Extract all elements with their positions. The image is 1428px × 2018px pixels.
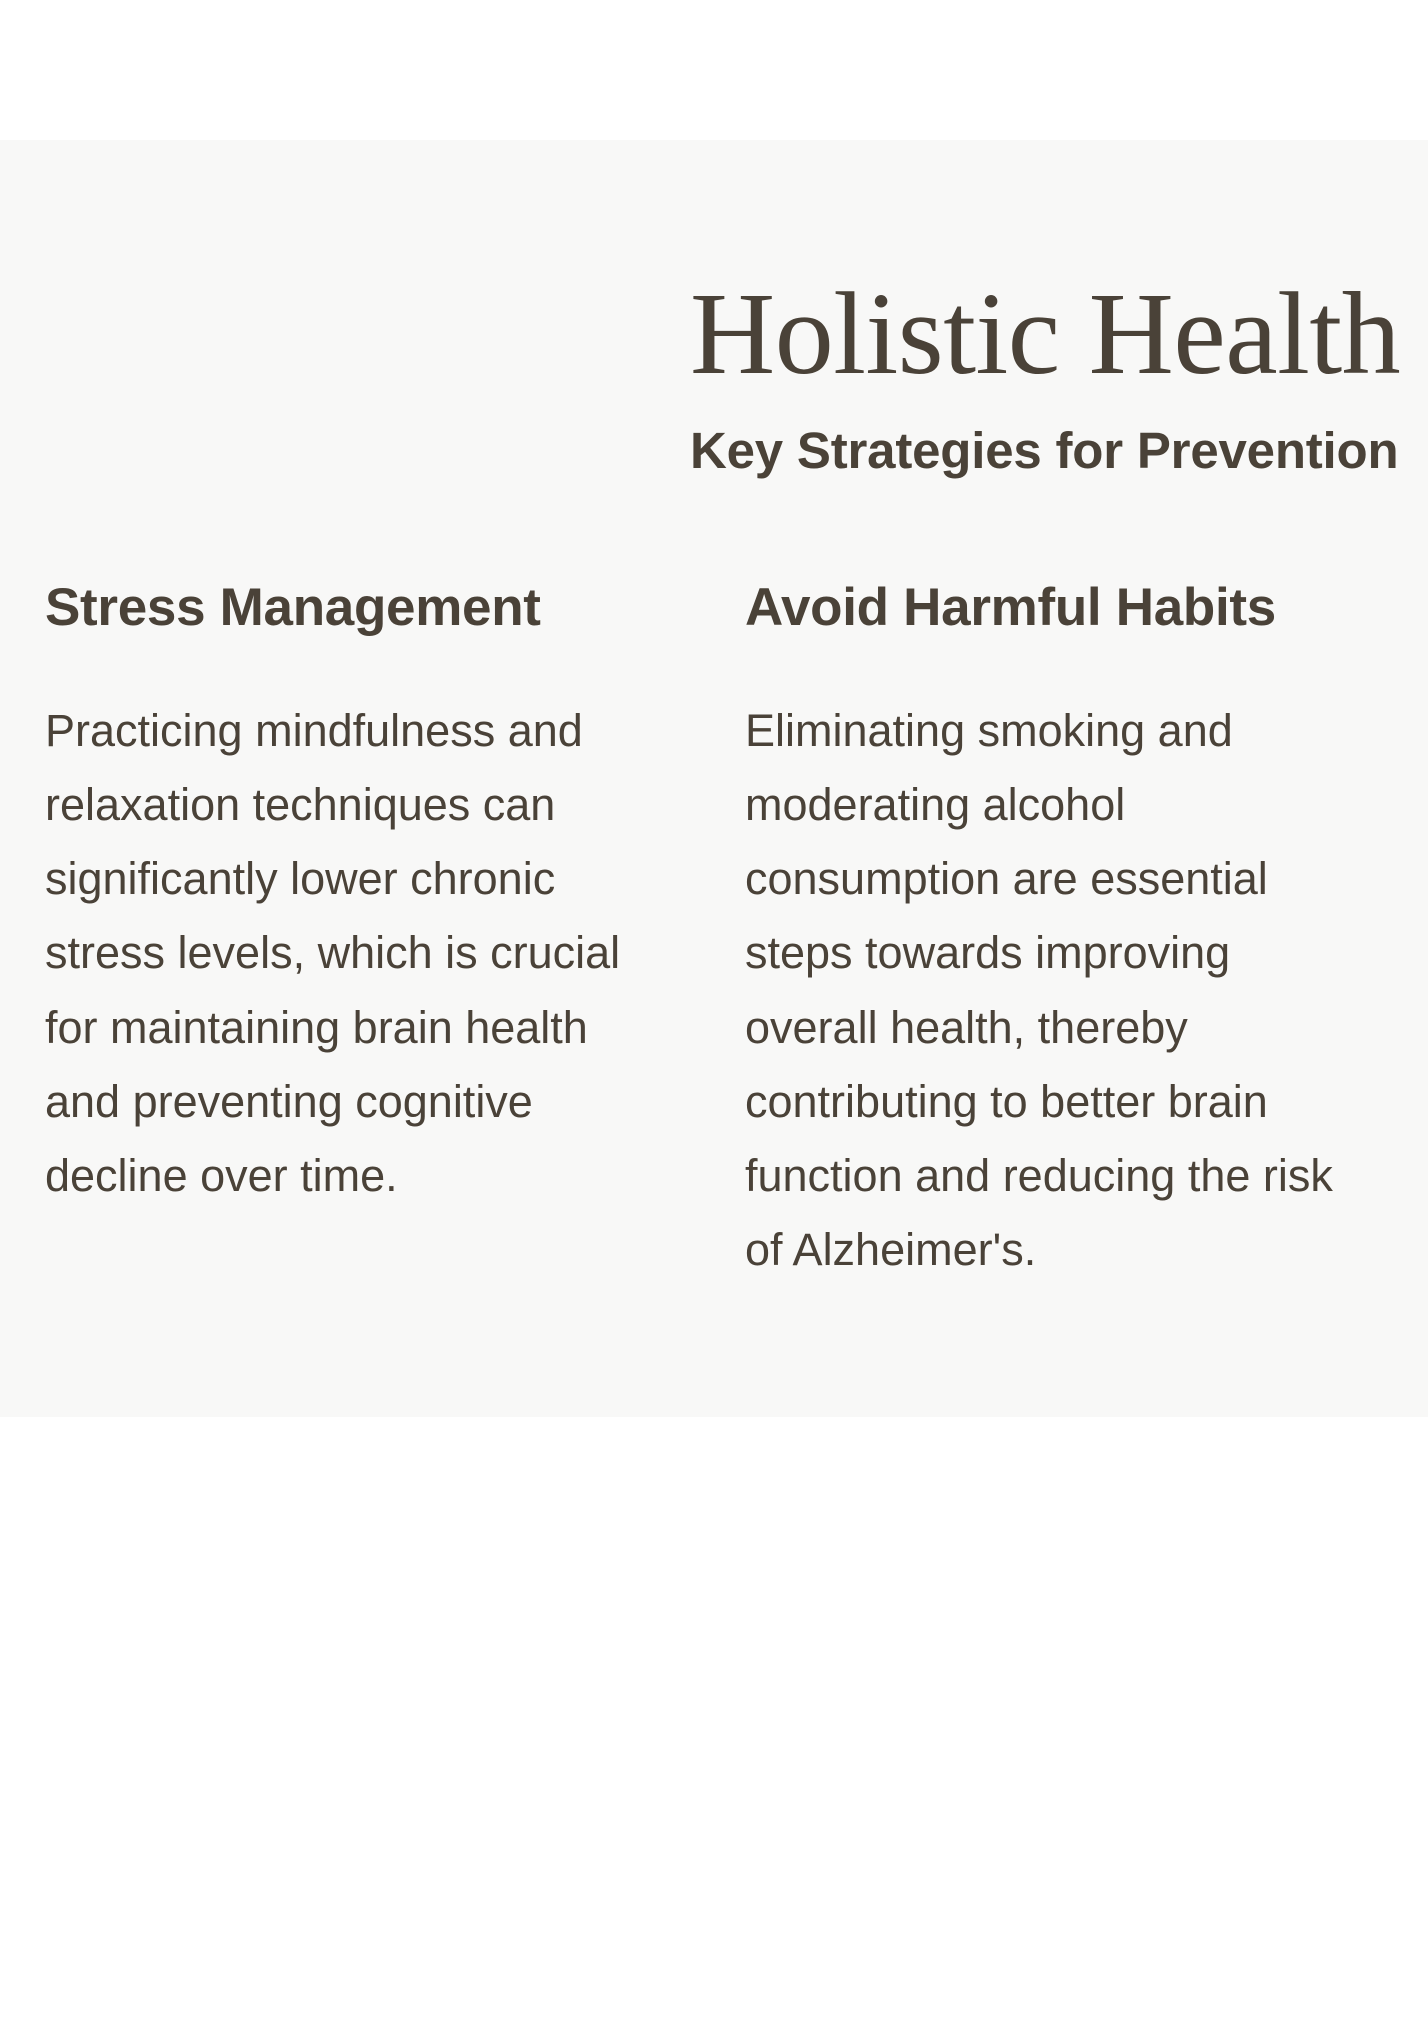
column-heading: Avoid Harmful Habits [745,580,1375,636]
column-body-text: Practicing mindfulness and relaxation te… [45,694,675,1214]
content-column-stress-management: Stress Management Practicing mindfulness… [45,580,675,1213]
poster-panel: Holistic Health Key Strategies for Preve… [0,140,1428,1417]
poster-page: Holistic Health Key Strategies for Preve… [0,0,1428,2018]
content-columns: Stress Management Practicing mindfulness… [0,140,1428,1417]
content-column-avoid-harmful-habits: Avoid Harmful Habits Eliminating smoking… [745,580,1375,1288]
column-body-text: Eliminating smoking and moderating alcoh… [745,694,1375,1288]
column-heading: Stress Management [45,580,675,636]
